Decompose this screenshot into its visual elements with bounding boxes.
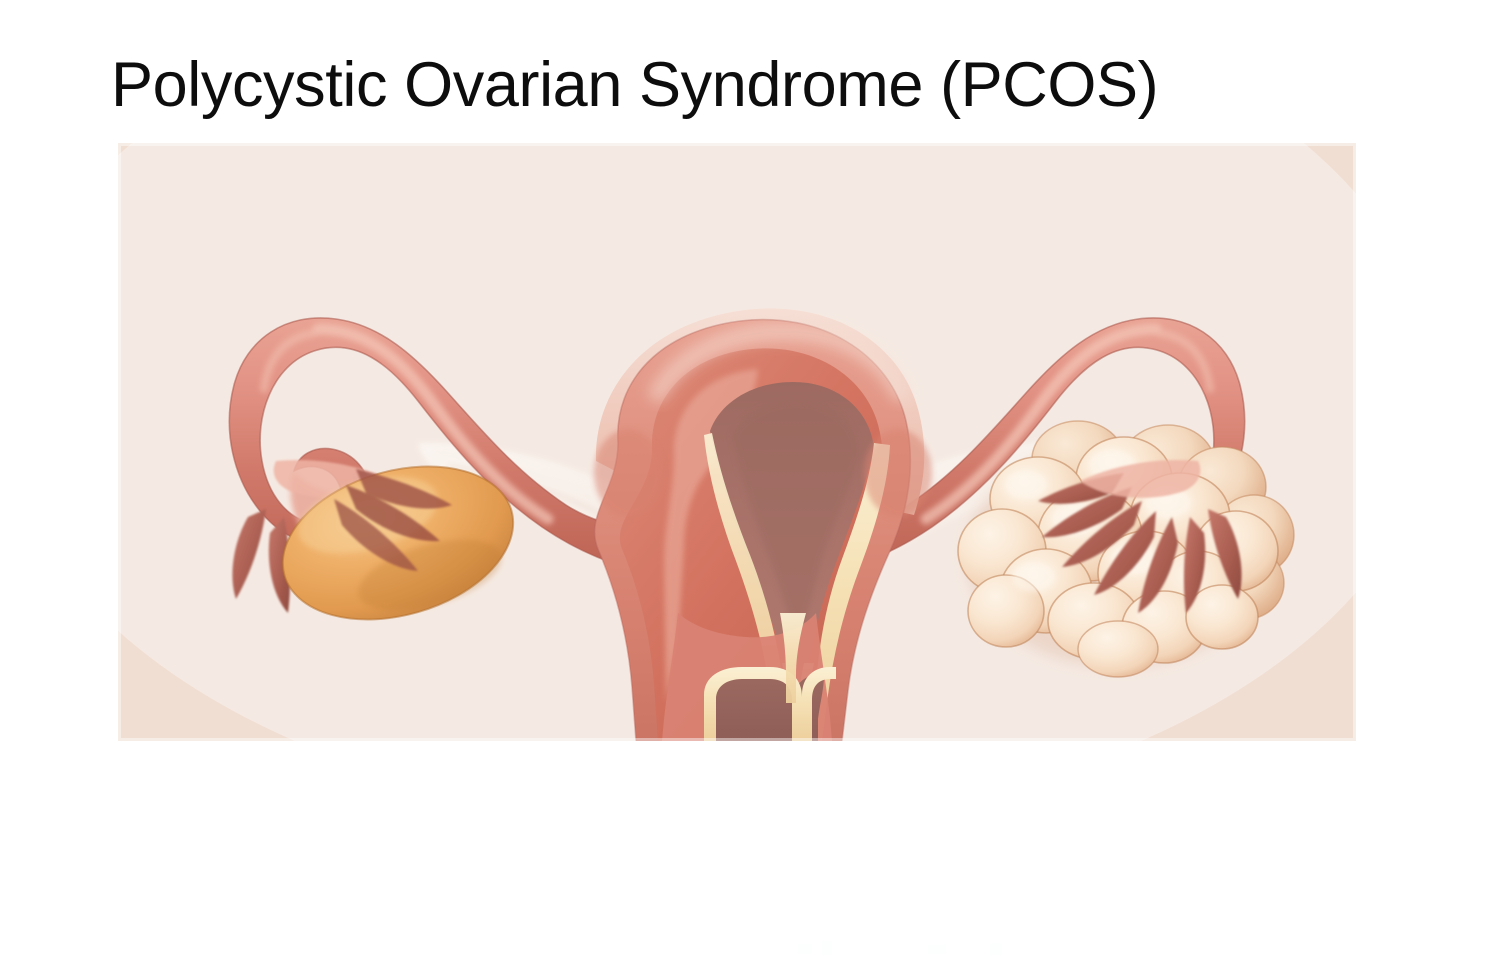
page-title: Polycystic Ovarian Syndrome (PCOS) <box>111 52 1411 118</box>
bottom-artifact-1 <box>798 944 812 954</box>
pcos-illustration <box>118 143 1356 741</box>
bottom-artifact-3 <box>928 945 946 954</box>
female-reproductive-system-diagram <box>118 143 1356 741</box>
bottom-artifact-2 <box>822 941 832 955</box>
bottom-artifact-4 <box>990 943 1002 955</box>
